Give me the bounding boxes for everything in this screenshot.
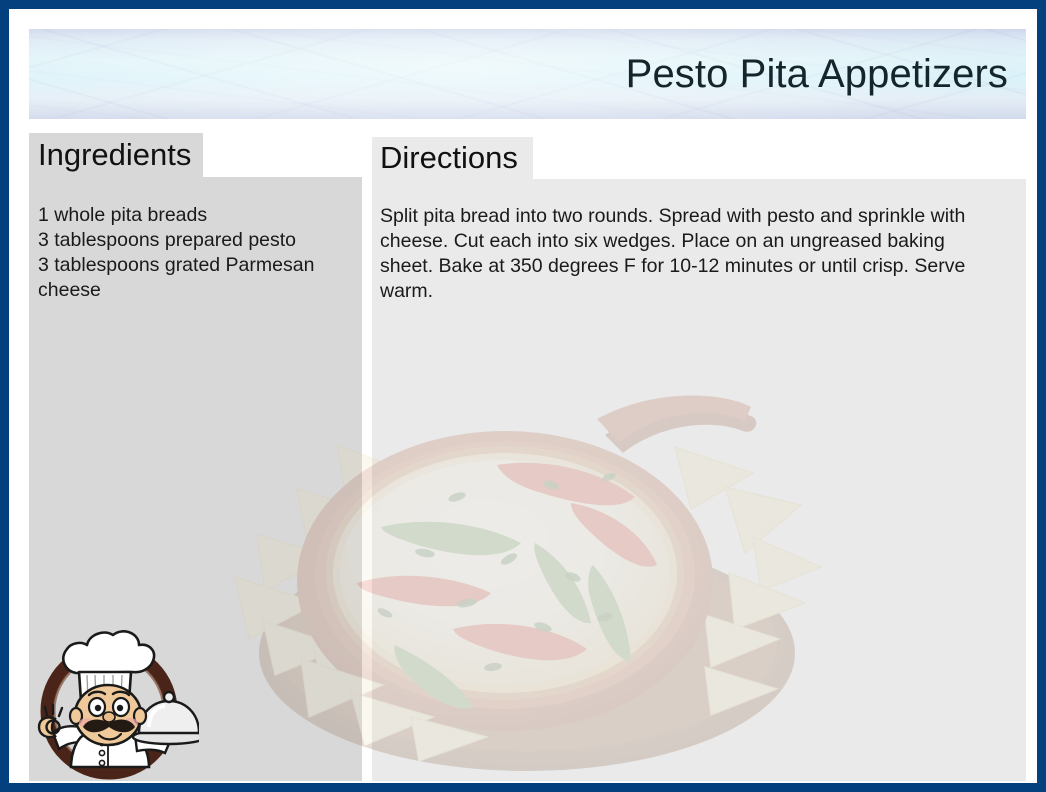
tab-directions[interactable]: Directions <box>372 137 533 180</box>
card-inner-surface: Pesto Pita Appetizers Ingredients 1 whol… <box>9 9 1037 783</box>
list-item: 1 whole pita breads <box>38 203 353 228</box>
tab-ingredients[interactable]: Ingredients <box>29 133 203 178</box>
ingredients-list: 1 whole pita breads 3 tablespoons prepar… <box>38 203 353 303</box>
recipe-card: Pesto Pita Appetizers Ingredients 1 whol… <box>0 0 1046 792</box>
list-item: 3 tablespoons prepared pesto <box>38 228 353 253</box>
title-banner: Pesto Pita Appetizers <box>29 29 1026 119</box>
chef-mascot-logo <box>29 615 199 781</box>
directions-panel: Split pita bread into two rounds. Spread… <box>372 179 1026 781</box>
page-title: Pesto Pita Appetizers <box>626 54 1008 94</box>
directions-text: Split pita bread into two rounds. Spread… <box>380 204 998 304</box>
list-item: 3 tablespoons grated Parmesan cheese <box>38 253 353 303</box>
